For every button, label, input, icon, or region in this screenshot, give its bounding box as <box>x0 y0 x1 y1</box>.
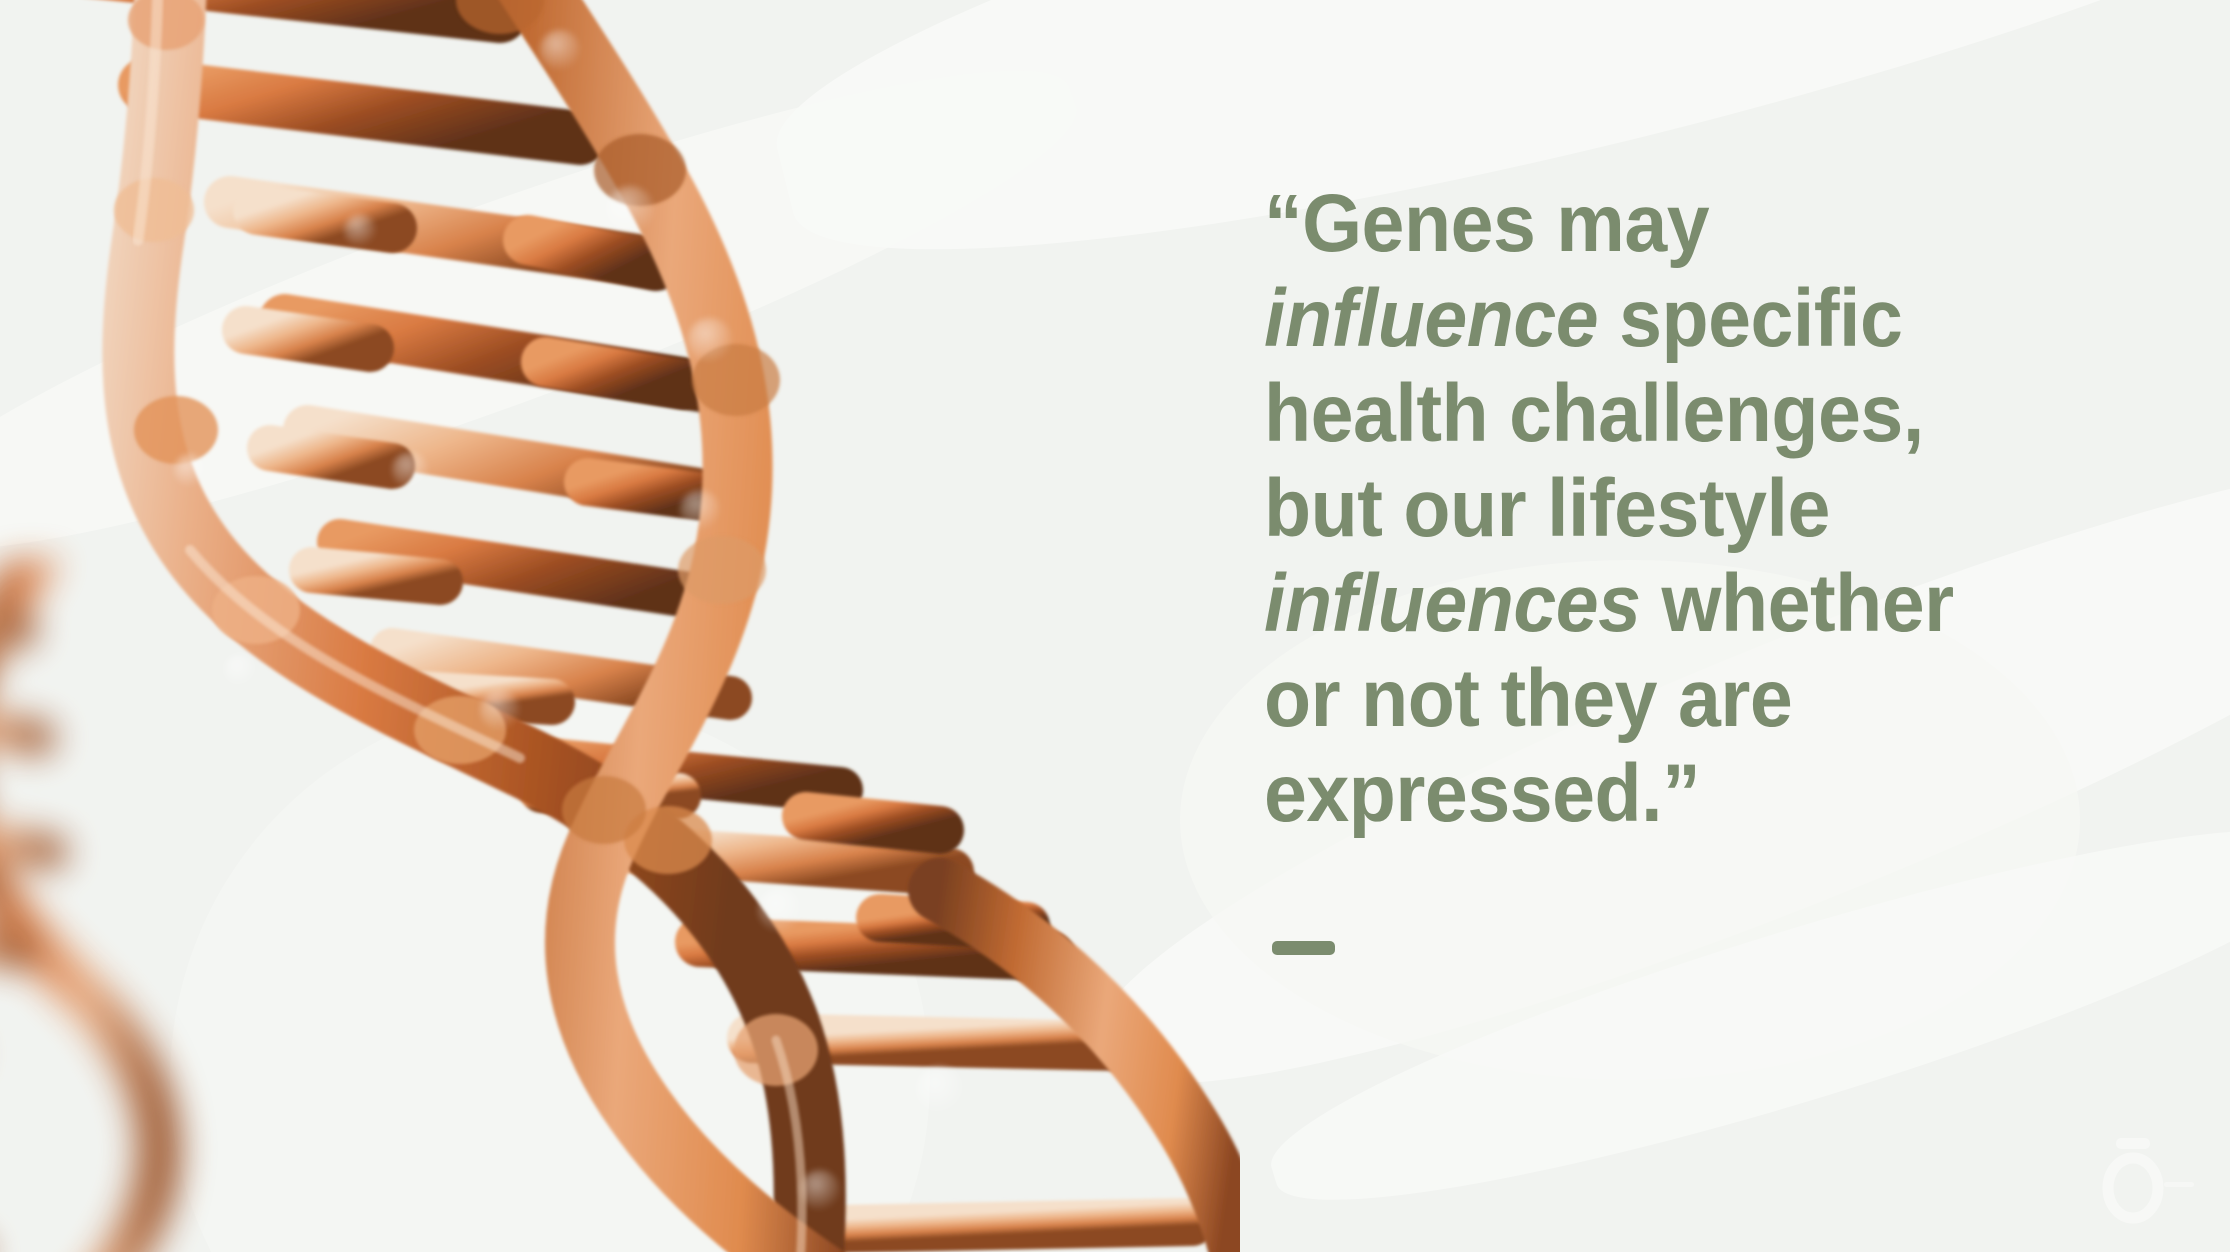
slide-canvas: “Genes may influence specific health cha… <box>0 0 2230 1252</box>
brand-watermark-icon <box>2086 1132 2194 1228</box>
quote-line-5: influences whether <box>1264 556 2044 651</box>
quote-divider-dash <box>1272 941 1335 955</box>
quote-line-1: “Genes may <box>1264 176 2044 271</box>
quote-line-2: influence specific <box>1264 271 2044 366</box>
quote-line-6: or not they are <box>1264 651 2044 746</box>
quote-line-7: expressed.” <box>1264 746 2044 841</box>
dna-helix-icon <box>0 0 1240 1252</box>
quote-line-4: but our lifestyle <box>1264 461 2044 556</box>
quote-text-block: “Genes may influence specific health cha… <box>1264 176 2094 841</box>
quote-line-3: health challenges, <box>1264 366 2044 461</box>
